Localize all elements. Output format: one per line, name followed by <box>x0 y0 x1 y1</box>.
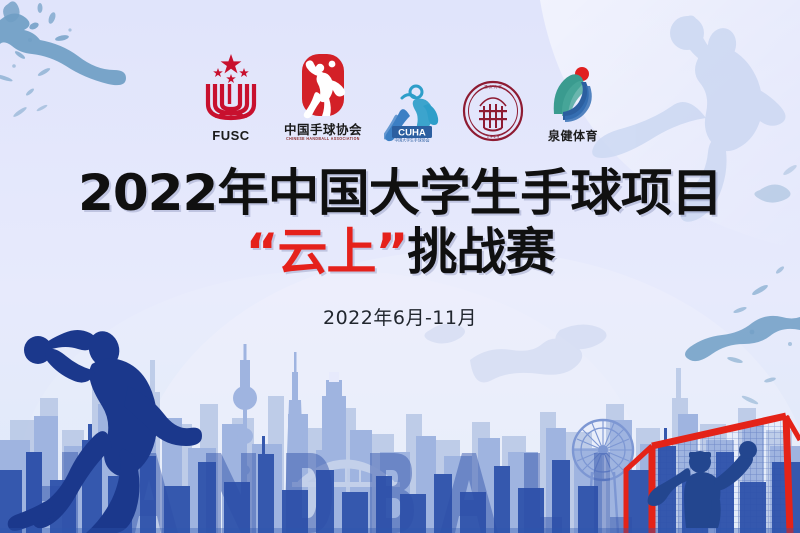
cha-logo-mark <box>298 54 348 120</box>
fusc-logo: FUSC <box>200 52 262 142</box>
title-quote-open: “ <box>246 223 278 281</box>
svg-text:中国大学生手球协会: 中国大学生手球协会 <box>394 137 429 142</box>
event-date: 2022年6月-11月 <box>0 303 800 330</box>
university-seal-mark: 重 庆 大 学 1 9 2 9 <box>462 80 524 142</box>
cha-logo-subcaption: CHINESE HANDBALL ASSOCIATION <box>286 138 360 142</box>
title-block: 2022年中国大学生手球项目 “云上”挑战赛 2022年6月-11月 <box>0 168 800 330</box>
title-line-1: 2022年中国大学生手球项目 <box>0 168 800 218</box>
cha-logo-caption: 中国手球协会 <box>284 124 362 137</box>
quanjian-sports-logo: 泉健体育 <box>546 64 600 142</box>
fusc-logo-caption: FUSC <box>212 129 249 142</box>
title-line-2: “云上”挑战赛 <box>0 227 800 277</box>
fusc-logo-mark <box>200 52 262 124</box>
quanjian-logo-mark <box>546 64 600 126</box>
quanjian-logo-caption: 泉健体育 <box>548 130 598 142</box>
cuha-logo-mark: CUHA 中国大学生手球协会 <box>384 84 440 142</box>
chinese-handball-association-logo: 中国手球协会 CHINESE HANDBALL ASSOCIATION <box>284 54 362 142</box>
university-seal-logo: 重 庆 大 学 1 9 2 9 <box>462 80 524 142</box>
title-line-2-red: 云上 <box>278 223 376 281</box>
title-line-2-black: 挑战赛 <box>407 223 554 281</box>
poster-canvas: FUSC 中国手球协会 CHINESE HANDBALL ASSOCIATION <box>0 0 800 533</box>
logo-row: FUSC 中国手球协会 CHINESE HANDBALL ASSOCIATION <box>0 52 800 142</box>
cuha-logo: CUHA 中国大学生手球协会 <box>384 84 440 142</box>
title-quote-close: ” <box>376 223 408 281</box>
